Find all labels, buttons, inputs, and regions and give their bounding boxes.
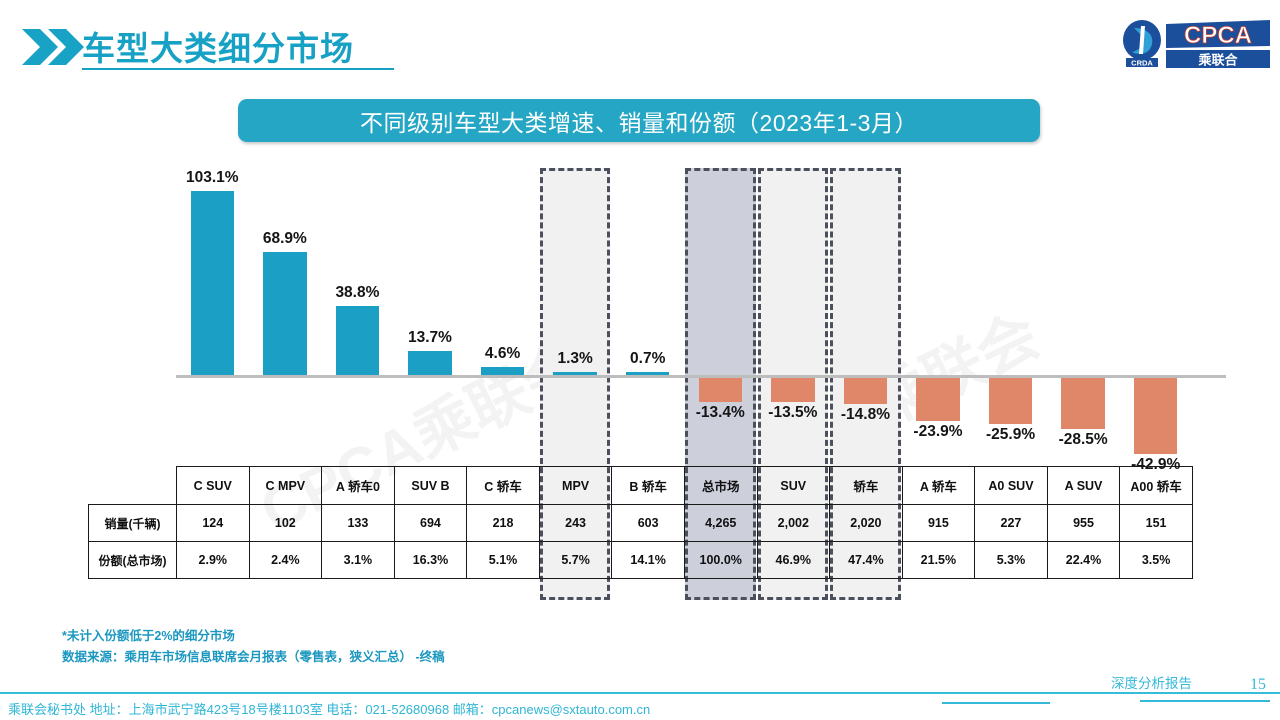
- table-col-header-8: SUV: [757, 467, 830, 505]
- svg-text:乘联合: 乘联合: [1197, 53, 1238, 68]
- footnote-line-1: *未计入份额低于2%的细分市场: [62, 626, 445, 647]
- page-title: 车型大类细分市场: [82, 22, 354, 70]
- table-header-row: C SUVC MPVA 轿车0SUV BC 轿车MPVB 轿车总市场SUV轿车A…: [89, 467, 1193, 505]
- table-col-header-13: A00 轿车: [1120, 467, 1193, 505]
- bar-1: [263, 252, 307, 375]
- table-row: 份额(总市场)2.9%2.4%3.1%16.3%5.1%5.7%14.1%100…: [89, 542, 1193, 579]
- table-cell-0-5: 243: [539, 505, 612, 542]
- table-cell-1-11: 5.3%: [975, 542, 1048, 579]
- table-cell-0-9: 2,020: [830, 505, 903, 542]
- title-underline: [82, 68, 394, 70]
- table-col-header-7: 总市场: [684, 467, 757, 505]
- page-rule-right: [1140, 700, 1270, 702]
- table-col-header-6: B 轿车: [612, 467, 685, 505]
- slide-header: 车型大类细分市场 CRDA CPCA 乘联合: [0, 0, 1280, 88]
- table-col-header-0: C SUV: [177, 467, 250, 505]
- bar-7: [699, 378, 743, 402]
- table-row: 销量(千辆)1241021336942182436034,2652,0022,0…: [89, 505, 1193, 542]
- table-row-header-1: 份额(总市场): [89, 542, 177, 579]
- table-cell-0-11: 227: [975, 505, 1048, 542]
- footnote-line-2: 数据来源：乘用车市场信息联席会月报表（零售表，狭义汇总） -终稿: [62, 647, 445, 668]
- page-rule-left: [942, 702, 1050, 704]
- bar-9: [844, 378, 888, 404]
- svg-text:CRDA: CRDA: [1131, 59, 1153, 68]
- table-cell-1-1: 2.4%: [249, 542, 322, 579]
- table-cell-1-10: 21.5%: [902, 542, 975, 579]
- table-cell-1-4: 5.1%: [467, 542, 540, 579]
- bar-8: [771, 378, 815, 402]
- table-row-header-0: 销量(千辆): [89, 505, 177, 542]
- bar-11: [989, 378, 1033, 424]
- table-cell-1-0: 2.9%: [177, 542, 250, 579]
- table-cell-1-9: 47.4%: [830, 542, 903, 579]
- double-chevron-right-icon: [22, 28, 84, 66]
- table-cell-1-2: 3.1%: [322, 542, 395, 579]
- table-cell-0-3: 694: [394, 505, 467, 542]
- bar-label-12: -28.5%: [1037, 431, 1130, 449]
- footer-contact: 乘联会秘书处 地址：上海市武宁路423号18号楼1103室 电话：021-526…: [8, 699, 650, 718]
- chart-title-banner: 不同级别车型大类增速、销量和份额（2023年1-3月）: [238, 99, 1040, 142]
- table-cell-0-4: 218: [467, 505, 540, 542]
- bar-label-1: 68.9%: [239, 230, 332, 248]
- report-label: 深度分析报告: [1111, 672, 1192, 692]
- table-col-header-2: A 轿车0: [322, 467, 395, 505]
- table-cell-0-10: 915: [902, 505, 975, 542]
- bar-13: [1134, 378, 1178, 454]
- page-number: 15: [1250, 676, 1266, 694]
- table-corner-cell: [89, 467, 177, 505]
- table-col-header-5: MPV: [539, 467, 612, 505]
- table-cell-0-13: 151: [1120, 505, 1193, 542]
- table-col-header-12: A SUV: [1047, 467, 1120, 505]
- table-cell-1-8: 46.9%: [757, 542, 830, 579]
- table-cell-1-7: 100.0%: [684, 542, 757, 579]
- table-cell-1-12: 22.4%: [1047, 542, 1120, 579]
- table-col-header-3: SUV B: [394, 467, 467, 505]
- table-cell-1-6: 14.1%: [612, 542, 685, 579]
- table-col-header-4: C 轿车: [467, 467, 540, 505]
- bar-chart-plot: 103.1%68.9%38.8%13.7%4.6%1.3%0.7%-13.4%-…: [0, 150, 1280, 480]
- bar-label-6: 0.7%: [601, 350, 694, 368]
- table-cell-0-6: 603: [612, 505, 685, 542]
- table-cell-0-7: 4,265: [684, 505, 757, 542]
- table-col-header-1: C MPV: [249, 467, 322, 505]
- bar-3: [408, 351, 452, 375]
- bar-5: [553, 372, 597, 375]
- bar-2: [336, 306, 380, 375]
- table-cell-1-13: 3.5%: [1120, 542, 1193, 579]
- table-col-header-11: A0 SUV: [975, 467, 1048, 505]
- data-table: C SUVC MPVA 轿车0SUV BC 轿车MPVB 轿车总市场SUV轿车A…: [88, 466, 1193, 579]
- bar-6: [626, 372, 670, 375]
- svg-text:CPCA: CPCA: [1184, 22, 1252, 49]
- bar-12: [1061, 378, 1105, 429]
- bar-0: [191, 191, 235, 375]
- table-cell-0-1: 102: [249, 505, 322, 542]
- table-cell-0-0: 124: [177, 505, 250, 542]
- table-cell-1-3: 16.3%: [394, 542, 467, 579]
- table-cell-0-2: 133: [322, 505, 395, 542]
- table-cell-0-12: 955: [1047, 505, 1120, 542]
- cpca-logo: CRDA CPCA 乘联合: [1120, 16, 1270, 70]
- table-cell-1-5: 5.7%: [539, 542, 612, 579]
- bar-label-0: 103.1%: [166, 169, 259, 187]
- table-cell-0-8: 2,002: [757, 505, 830, 542]
- bar-10: [916, 378, 960, 421]
- chart-title: 不同级别车型大类增速、销量和份额（2023年1-3月）: [360, 104, 918, 138]
- bar-label-2: 38.8%: [311, 284, 404, 302]
- footnotes: *未计入份额低于2%的细分市场 数据来源：乘用车市场信息联席会月报表（零售表，狭…: [62, 626, 445, 668]
- bar-4: [481, 367, 525, 375]
- table-col-header-9: 轿车: [830, 467, 903, 505]
- table-col-header-10: A 轿车: [902, 467, 975, 505]
